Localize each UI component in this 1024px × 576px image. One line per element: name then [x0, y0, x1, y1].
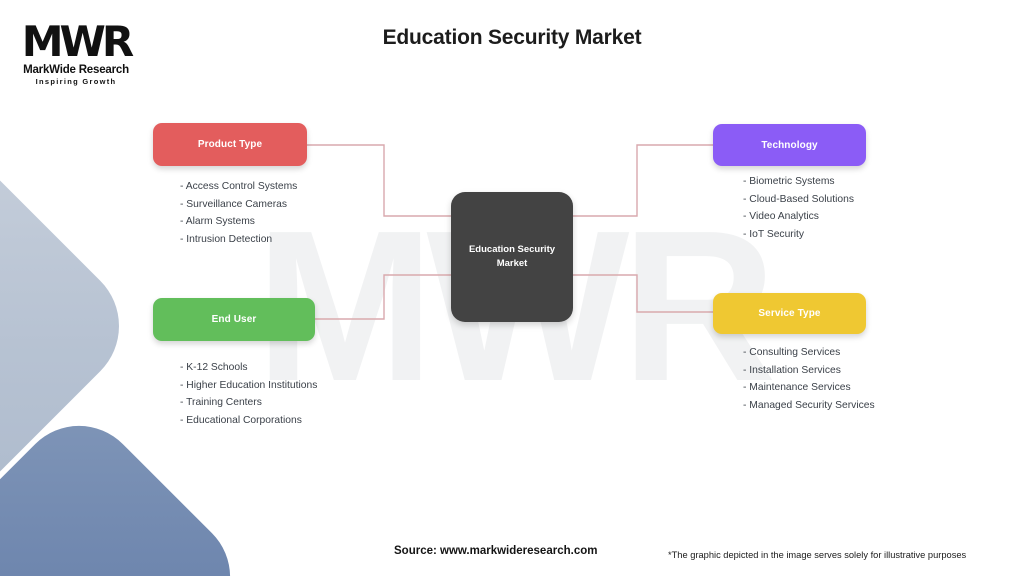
branch-items-technology: - Biometric Systems - Cloud-Based Soluti… — [743, 173, 854, 243]
source-label: Source: www.markwideresearch.com — [394, 545, 597, 557]
list-item: - Access Control Systems — [180, 178, 297, 196]
connector-end-user — [315, 275, 455, 319]
center-node[interactable]: Education Security Market — [451, 192, 573, 322]
list-item: - Managed Security Services — [743, 397, 875, 415]
logo-tagline: Inspiring Growth — [14, 77, 138, 86]
diagram-canvas: MWR MWR MarkWide Research Inspiring Grow… — [0, 0, 1024, 576]
branch-items-product-type: - Access Control Systems - Surveillance … — [180, 178, 297, 248]
list-item: - Training Centers — [180, 394, 317, 412]
branch-box-product-type[interactable]: Product Type — [153, 123, 307, 166]
list-item: - Higher Education Institutions — [180, 377, 317, 395]
connector-technology — [570, 145, 713, 216]
branch-label-technology: Technology — [761, 140, 817, 151]
center-node-label: Education Security Market — [461, 243, 563, 271]
page-title: Education Security Market — [262, 26, 762, 50]
branch-items-service-type: - Consulting Services - Installation Ser… — [743, 344, 875, 414]
list-item: - Intrusion Detection — [180, 231, 297, 249]
list-item: - Installation Services — [743, 362, 875, 380]
logo-company-name: MarkWide Research — [14, 64, 138, 76]
branch-items-end-user: - K-12 Schools - Higher Education Instit… — [180, 359, 317, 429]
branch-box-service-type[interactable]: Service Type — [713, 293, 866, 334]
logo: MWR MarkWide Research Inspiring Growth — [14, 22, 138, 86]
logo-mark-icon: MWR — [14, 22, 138, 62]
branch-label-product-type: Product Type — [198, 139, 262, 150]
list-item: - Consulting Services — [743, 344, 875, 362]
connector-product-type — [307, 145, 455, 216]
connector-service-type — [570, 275, 713, 312]
list-item: - Alarm Systems — [180, 213, 297, 231]
list-item: - Biometric Systems — [743, 173, 854, 191]
list-item: - Cloud-Based Solutions — [743, 191, 854, 209]
list-item: - Surveillance Cameras — [180, 196, 297, 214]
branch-box-technology[interactable]: Technology — [713, 124, 866, 166]
list-item: - K-12 Schools — [180, 359, 317, 377]
list-item: - IoT Security — [743, 226, 854, 244]
list-item: - Maintenance Services — [743, 379, 875, 397]
disclaimer-label: *The graphic depicted in the image serve… — [668, 550, 966, 560]
branch-label-service-type: Service Type — [758, 308, 820, 319]
list-item: - Video Analytics — [743, 208, 854, 226]
branch-label-end-user: End User — [212, 314, 257, 325]
decorative-shape-light — [0, 136, 146, 515]
branch-box-end-user[interactable]: End User — [153, 298, 315, 341]
list-item: - Educational Corporations — [180, 412, 317, 430]
